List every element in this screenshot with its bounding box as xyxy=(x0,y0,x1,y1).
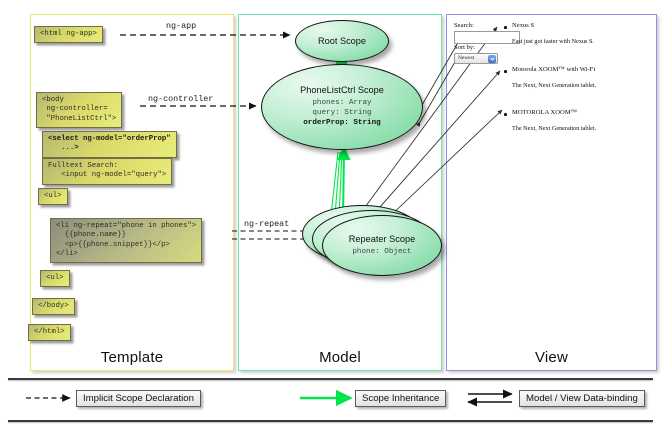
diagram-canvas: Template Model View xyxy=(0,0,661,425)
legend-scope-inheritance: Scope Inheritance xyxy=(355,390,446,407)
legend-model-view-data-binding: Model / View Data-binding xyxy=(519,390,645,407)
legend-implicit-scope-declaration: Implicit Scope Declaration xyxy=(76,390,201,407)
legend-icon-layer xyxy=(0,0,661,425)
